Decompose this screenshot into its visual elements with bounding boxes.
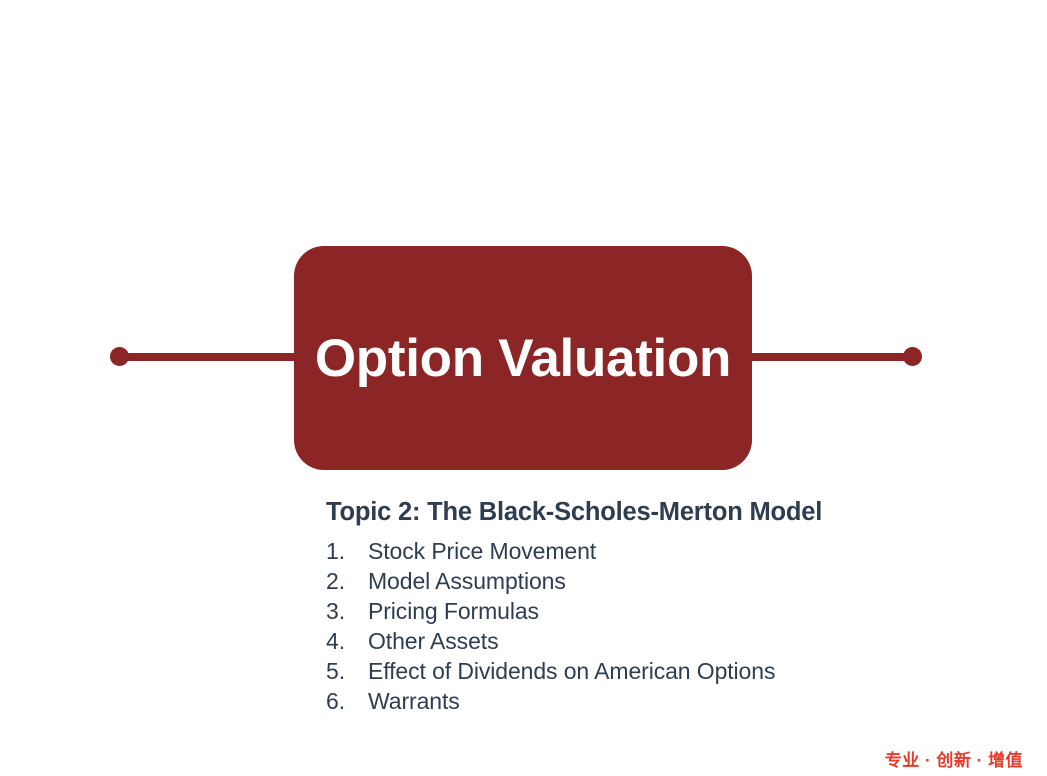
list-item-label: Other Assets <box>368 626 498 656</box>
agenda-list: 1. Stock Price Movement 2. Model Assumpt… <box>326 536 986 716</box>
list-item-number: 4. <box>326 626 368 656</box>
list-item: 1. Stock Price Movement <box>326 536 986 566</box>
list-item: 5. Effect of Dividends on American Optio… <box>326 656 986 686</box>
list-item-number: 3. <box>326 596 368 626</box>
topic-heading: Topic 2: The Black-Scholes-Merton Model <box>326 498 986 527</box>
slide-body: Topic 2: The Black-Scholes-Merton Model … <box>326 498 986 716</box>
slide-title: Option Valuation <box>315 332 731 385</box>
list-item-label: Effect of Dividends on American Options <box>368 656 775 686</box>
presentation-slide: Option Valuation Topic 2: The Black-Scho… <box>0 0 1047 776</box>
banner-line-right <box>730 353 915 361</box>
list-item-number: 2. <box>326 566 368 596</box>
list-item-number: 6. <box>326 686 368 716</box>
list-item-label: Warrants <box>368 686 460 716</box>
banner-dot-right-icon <box>903 347 922 366</box>
list-item: 3. Pricing Formulas <box>326 596 986 626</box>
list-item-label: Model Assumptions <box>368 566 566 596</box>
list-item: 4. Other Assets <box>326 626 986 656</box>
banner-line-left <box>118 353 318 361</box>
footer-tagline: 专业 · 创新 · 增值 <box>885 746 1023 771</box>
list-item-number: 1. <box>326 536 368 566</box>
list-item-label: Stock Price Movement <box>368 536 596 566</box>
list-item: 2. Model Assumptions <box>326 566 986 596</box>
list-item-number: 5. <box>326 656 368 686</box>
list-item-label: Pricing Formulas <box>368 596 539 626</box>
list-item: 6. Warrants <box>326 686 986 716</box>
title-box: Option Valuation <box>294 246 752 470</box>
